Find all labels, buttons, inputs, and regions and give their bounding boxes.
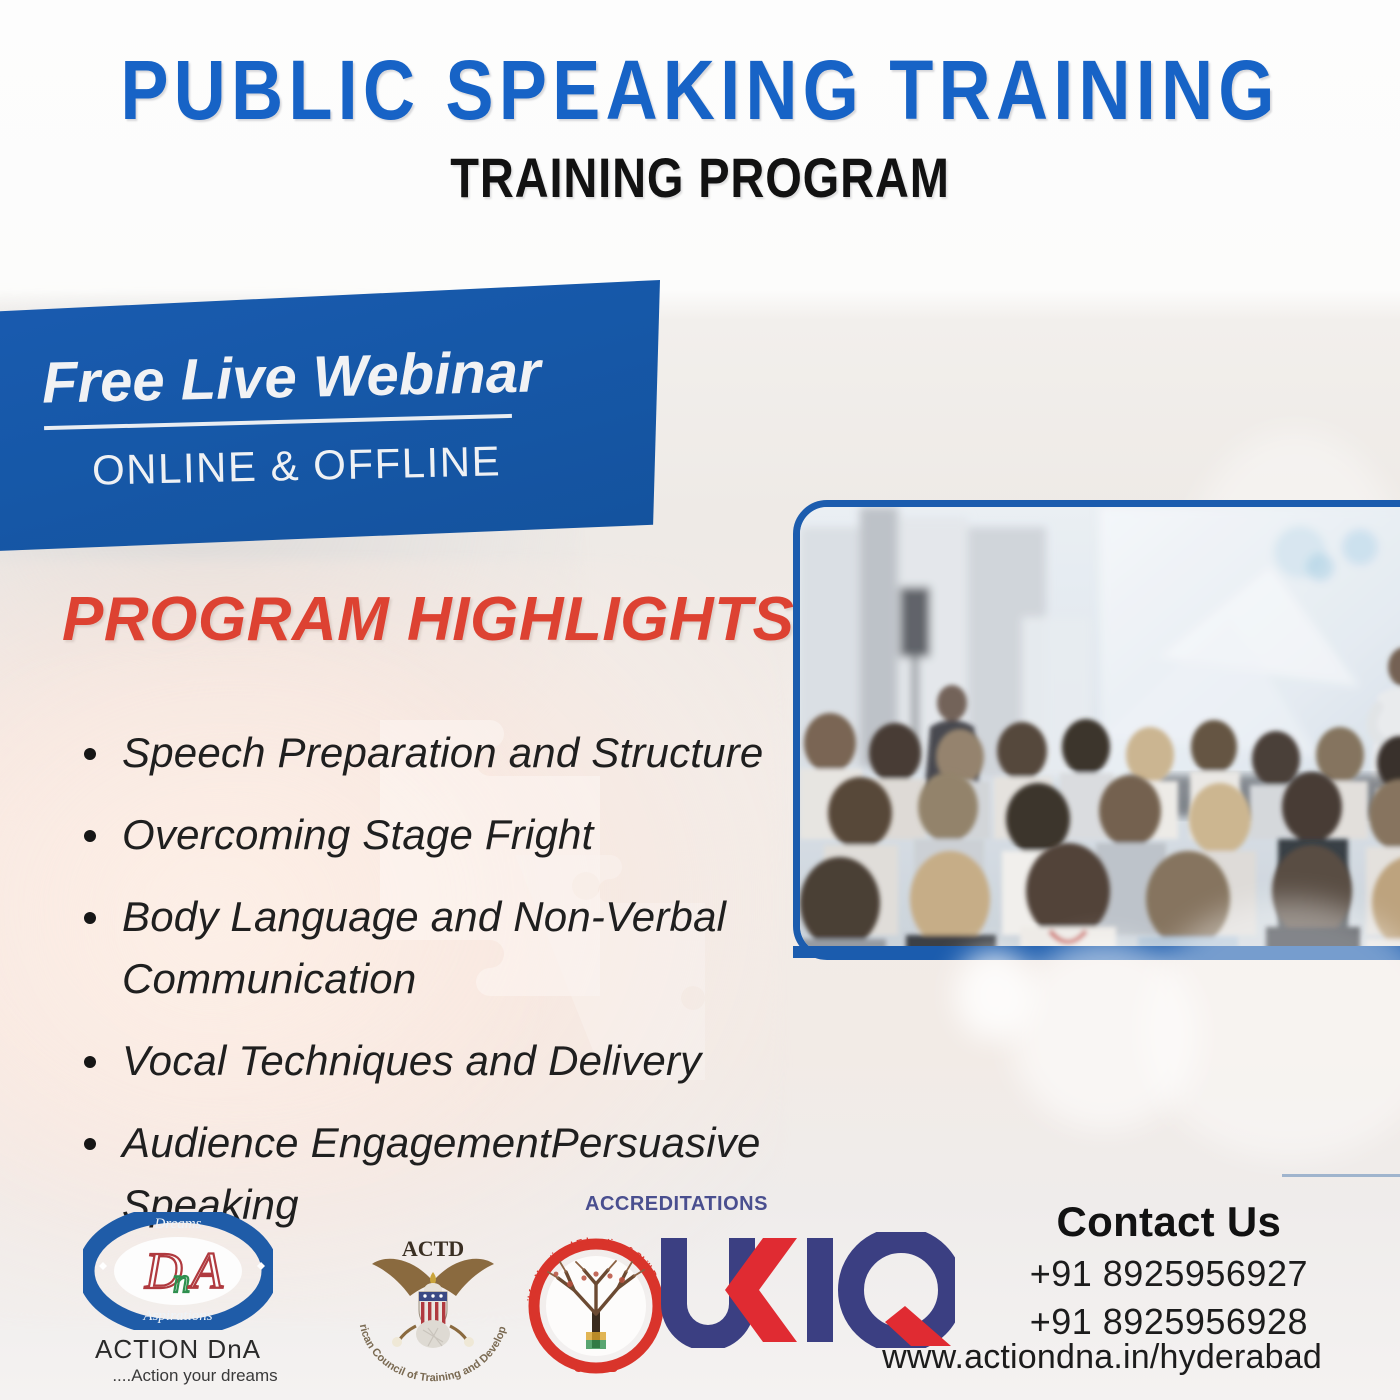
svg-text:ACTD: ACTD — [402, 1236, 464, 1261]
webinar-banner-headline: Free Live Webinar — [41, 338, 541, 416]
seminar-photo-image — [800, 507, 1400, 953]
contact-title: Contact Us — [1030, 1198, 1308, 1246]
bullet-dot-icon — [84, 748, 96, 760]
svg-text:n: n — [173, 1263, 190, 1300]
background-bokeh-blob — [955, 950, 1035, 1040]
list-item: Speech Preparation and Structure — [78, 722, 778, 784]
list-item-label: Overcoming Stage Fright — [122, 811, 593, 858]
action-dna-logo: Dreams Aspirations D n A ACTION DnA ....… — [78, 1212, 278, 1386]
right-edge-accent-line — [1282, 1174, 1400, 1177]
action-dna-logo-name: ACTION DnA — [78, 1334, 278, 1365]
svg-text:A: A — [188, 1243, 223, 1300]
list-item-label: Body Language and Non-Verbal Communicati… — [122, 893, 726, 1002]
page-subtitle: TRAINING PROGRAM — [112, 145, 1288, 210]
contact-website[interactable]: www.actiondna.in/hyderabad — [882, 1338, 1322, 1377]
bullet-dot-icon — [84, 1138, 96, 1150]
svg-text:CVESD: CVESD — [574, 1360, 619, 1375]
list-item: Body Language and Non-Verbal Communicati… — [78, 886, 778, 1010]
webinar-banner: Free Live Webinar ONLINE & OFFLINE — [0, 280, 660, 552]
bullet-dot-icon — [84, 912, 96, 924]
list-item-label: Speech Preparation and Structure — [122, 729, 763, 776]
program-highlights-list: Speech Preparation and Structure Overcom… — [78, 722, 778, 1256]
svg-text:Dreams: Dreams — [154, 1216, 202, 1232]
list-item: Overcoming Stage Fright — [78, 804, 778, 866]
program-highlights-heading: PROGRAM HIGHLIGHTS — [62, 584, 794, 655]
action-dna-emblem-icon: Dreams Aspirations D n A — [83, 1212, 273, 1330]
poster-canvas: PUBLIC SPEAKING TRAINING TRAINING PROGRA… — [0, 0, 1400, 1400]
contact-phone-1[interactable]: +91 8925956927 — [1030, 1250, 1308, 1298]
webinar-banner-mode: ONLINE & OFFLINE — [92, 437, 502, 494]
webinar-banner-rule — [44, 414, 512, 430]
contact-block: Contact Us +91 8925956927 +91 8925956928 — [1030, 1198, 1308, 1346]
list-item: Vocal Techniques and Delivery — [78, 1030, 778, 1092]
accreditations-label: ACCREDITATIONS — [585, 1193, 768, 1216]
list-item-label: Vocal Techniques and Delivery — [122, 1037, 701, 1084]
seminar-photo — [793, 500, 1400, 960]
svg-text:Aspirations: Aspirations — [142, 1308, 212, 1324]
page-title: PUBLIC SPEAKING TRAINING — [98, 42, 1302, 139]
bullet-dot-icon — [84, 830, 96, 842]
cvesd-logo: Council for Vocational Education & Skill… — [518, 1228, 674, 1384]
action-dna-logo-tagline: ....Action your dreams — [112, 1366, 278, 1386]
bullet-dot-icon — [84, 1056, 96, 1068]
actd-logo: ACTD — [348, 1234, 518, 1384]
ukiq-logo — [655, 1232, 955, 1348]
